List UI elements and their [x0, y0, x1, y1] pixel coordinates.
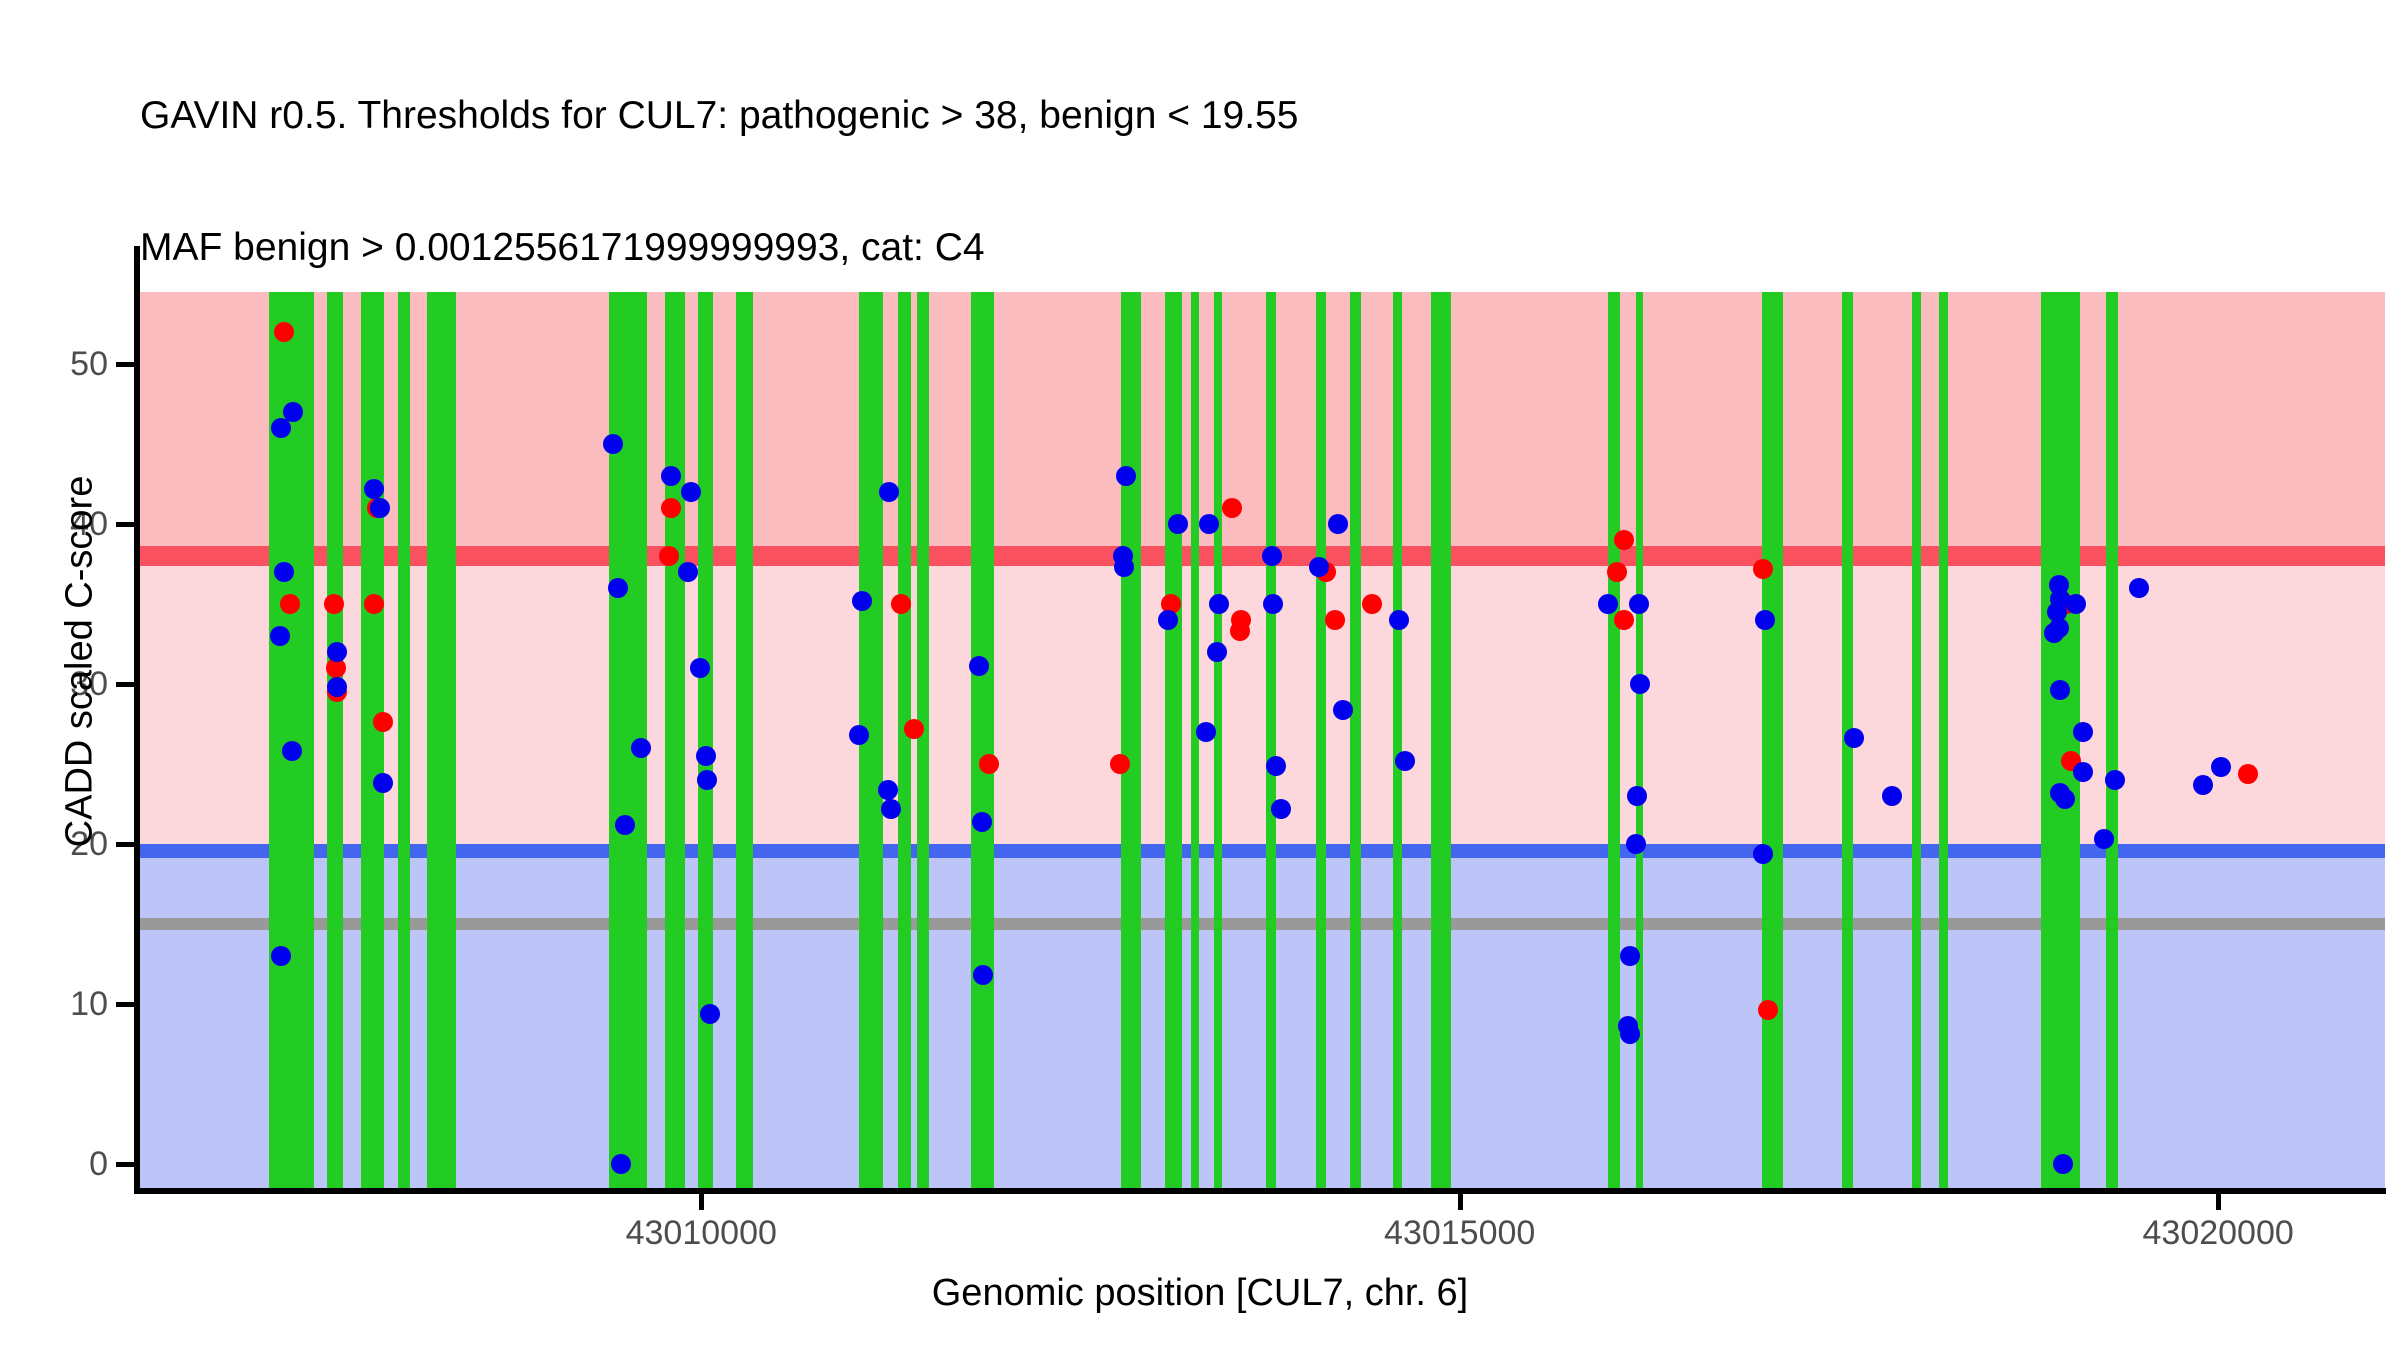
refseq-exon-bar: [1350, 292, 1361, 1188]
gnomad-variant-point: [631, 738, 651, 758]
pathogenic-variant-point: [1614, 610, 1634, 630]
gnomad-variant-point: [270, 626, 290, 646]
pathogenic-variant-point: [661, 498, 681, 518]
gnomad-variant-point: [1271, 799, 1291, 819]
refseq-exon-bar: [698, 292, 713, 1188]
y-tick-mark: [116, 1162, 134, 1167]
title-line-1: GAVIN r0.5. Thresholds for CUL7: pathoge…: [140, 94, 2280, 138]
y-axis-line: [134, 246, 140, 1192]
gnomad-variant-point: [1753, 844, 1773, 864]
gnomad-variant-point: [1266, 756, 1286, 776]
gnomad-variant-point: [364, 479, 384, 499]
gnomad-variant-point: [1626, 834, 1646, 854]
gnomad-variant-point: [282, 741, 302, 761]
refseq-exon-bar: [1762, 292, 1783, 1188]
refseq-exon-bar: [1939, 292, 1948, 1188]
gnomad-variant-point: [370, 498, 390, 518]
gnomad-variant-point: [1755, 610, 1775, 630]
gnomad-variant-point: [1207, 642, 1227, 662]
gnomad-variant-point: [972, 812, 992, 832]
gnomad-variant-point: [690, 658, 710, 678]
refseq-exon-bar: [398, 292, 410, 1188]
x-tick-label: 43020000: [2088, 1214, 2348, 1252]
gnomad-variant-point: [1309, 557, 1329, 577]
gnomad-variant-point: [1262, 546, 1282, 566]
y-tick-mark: [116, 362, 134, 367]
pathogenic-variant-point: [373, 712, 393, 732]
refseq-exon-bar: [1121, 292, 1141, 1188]
refseq-exon-bar: [1912, 292, 1921, 1188]
pathogenic-variant-point: [2238, 764, 2258, 784]
refseq-exon-bar: [361, 292, 384, 1188]
pathogenic-variant-point: [1110, 754, 1130, 774]
refseq-exon-bar: [1608, 292, 1620, 1188]
gnomad-variant-point: [1629, 594, 1649, 614]
gnomad-variant-point: [2193, 775, 2213, 795]
refseq-exon-bar: [1393, 292, 1402, 1188]
refseq-exon-bar: [327, 292, 344, 1188]
gnomad-variant-point: [2105, 770, 2125, 790]
gnomad-variant-point: [852, 591, 872, 611]
y-tick-label: 0: [0, 1147, 108, 1181]
gnomad-variant-point: [696, 746, 716, 766]
refseq-exon-bar: [736, 292, 753, 1188]
y-tick-mark: [116, 682, 134, 687]
gnomad-variant-point: [681, 482, 701, 502]
pathogenic-variant-point: [1230, 621, 1250, 641]
gnomad-variant-point: [2066, 594, 2086, 614]
gnomad-variant-point: [1882, 786, 1902, 806]
pathogenic-variant-point: [1758, 1000, 1778, 1020]
refseq-exon-bar: [1316, 292, 1327, 1188]
x-axis-line: [134, 1188, 2386, 1194]
refseq-exon-bar: [1636, 292, 1644, 1188]
gnomad-variant-point: [373, 773, 393, 793]
gnomad-variant-point: [608, 578, 628, 598]
y-tick-mark: [116, 1002, 134, 1007]
gnomad-variant-point: [700, 1004, 720, 1024]
x-tick-mark: [2216, 1194, 2221, 1210]
x-tick-label: 43015000: [1330, 1214, 1590, 1252]
y-axis-title: CADD scaled C-score: [59, 282, 102, 1042]
gnomad-variant-point: [1333, 700, 1353, 720]
gnomad-variant-point: [878, 780, 898, 800]
pathogenic-variant-point: [904, 719, 924, 739]
x-tick-mark: [1458, 1194, 1463, 1210]
refseq-exon-bar: [665, 292, 685, 1188]
refseq-exon-bar: [1191, 292, 1199, 1188]
gnomad-variant-point: [1389, 610, 1409, 630]
gnomad-variant-point: [661, 466, 681, 486]
gnomad-variant-point: [1395, 751, 1415, 771]
gnomad-variant-point: [1209, 594, 1229, 614]
pathogenic-variant-point: [364, 594, 384, 614]
pathogenic-variant-point: [274, 322, 294, 342]
refseq-exon-bar: [2041, 292, 2080, 1188]
gnomad-variant-point: [1620, 1024, 1640, 1044]
pathogenic-variant-point: [1614, 530, 1634, 550]
gnomad-variant-point: [1116, 466, 1136, 486]
refseq-exon-bar: [427, 292, 456, 1188]
refseq-exon-bar: [917, 292, 929, 1188]
y-tick-mark: [116, 522, 134, 527]
pathogenic-variant-point: [1362, 594, 1382, 614]
refseq-exon-bar: [1214, 292, 1222, 1188]
pathogenic-variant-point: [1753, 559, 1773, 579]
gnomad-variant-point: [271, 946, 291, 966]
refseq-exon-bar: [898, 292, 910, 1188]
y-tick-mark: [116, 842, 134, 847]
refseq-exon-bar: [971, 292, 994, 1188]
refseq-exon-bar: [1165, 292, 1182, 1188]
gnomad-variant-point: [2073, 722, 2093, 742]
x-axis-title: Genomic position [CUL7, chr. 6]: [0, 1272, 2400, 1315]
gnomad-variant-point: [2044, 623, 2064, 643]
gnomad-variant-point: [1620, 946, 1640, 966]
gnomad-variant-point: [611, 1154, 631, 1174]
refseq-exon-bar: [2106, 292, 2118, 1188]
gnomad-variant-point: [678, 562, 698, 582]
gnomad-variant-point: [1263, 594, 1283, 614]
plot-area: [140, 292, 2385, 1188]
chart-root: GAVIN r0.5. Thresholds for CUL7: pathoge…: [0, 0, 2400, 1350]
gnomad-variant-point: [881, 799, 901, 819]
gnomad-variant-point: [274, 562, 294, 582]
gnomad-variant-point: [2055, 789, 2075, 809]
x-tick-label: 43010000: [571, 1214, 831, 1252]
title-line-2: MAF benign > 0.0012556171999999993, cat:…: [140, 226, 2280, 270]
refseq-exon-bar: [1431, 292, 1451, 1188]
x-tick-mark: [699, 1194, 704, 1210]
gnomad-variant-point: [1168, 514, 1188, 534]
refseq-exon-bar: [1266, 292, 1277, 1188]
gnomad-variant-point: [2073, 762, 2093, 782]
